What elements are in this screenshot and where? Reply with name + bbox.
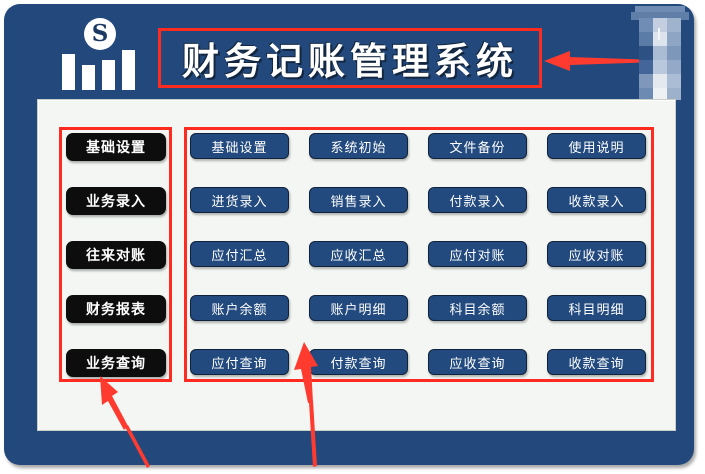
app-root: S 财务记账管理系统 — [0, 0, 705, 474]
bar-chart-logo: S — [60, 18, 142, 90]
grid-button-r3c4[interactable]: 应收对账 — [547, 241, 646, 267]
sidebar-item-reconciliation[interactable]: 往来对账 — [66, 241, 166, 269]
grid-button-r5c2[interactable]: 付款查询 — [309, 349, 408, 375]
content-panel: 基础设置 业务录入 往来对账 财务报表 业务查询 基础设置 系统初始 文件备份 … — [37, 99, 676, 431]
grid-button-r4c2[interactable]: 账户明细 — [309, 295, 408, 321]
window-frame: S 财务记账管理系统 — [4, 4, 694, 465]
grid-button-r4c4[interactable]: 科目明细 — [547, 295, 646, 321]
grid-button-r5c1[interactable]: 应付查询 — [190, 349, 289, 375]
grid-button-r3c1[interactable]: 应付汇总 — [190, 241, 289, 267]
sidebar-menu: 基础设置 业务录入 往来对账 财务报表 业务查询 — [66, 133, 166, 377]
grid-button-r2c2[interactable]: 销售录入 — [309, 187, 408, 213]
grid-button-r2c4[interactable]: 收款录入 — [547, 187, 646, 213]
page-title: 财务记账管理系统 — [161, 31, 539, 85]
logo-bar-2 — [82, 65, 95, 90]
sidebar-item-business-query[interactable]: 业务查询 — [66, 349, 166, 377]
grid-button-r4c3[interactable]: 科目余额 — [428, 295, 527, 321]
grid-button-r5c4[interactable]: 收款查询 — [547, 349, 646, 375]
title-highlight-box: 财务记账管理系统 — [158, 28, 542, 88]
sidebar-item-business-entry[interactable]: 业务录入 — [66, 187, 166, 215]
logo-bars-icon — [60, 45, 142, 90]
grid-button-r2c3[interactable]: 付款录入 — [428, 187, 527, 213]
grid-button-r3c2[interactable]: 应收汇总 — [309, 241, 408, 267]
grid-button-r3c3[interactable]: 应付对账 — [428, 241, 527, 267]
logo-bar-1 — [62, 54, 75, 90]
grid-button-r1c3[interactable]: 文件备份 — [428, 133, 527, 159]
grid-button-r4c1[interactable]: 账户余额 — [190, 295, 289, 321]
logo-bar-3 — [102, 60, 115, 90]
app-header: S 财务记账管理系统 — [4, 4, 694, 96]
pixelated-watermark — [629, 4, 691, 109]
grid-button-r1c1[interactable]: 基础设置 — [190, 133, 289, 159]
grid-button-r1c2[interactable]: 系统初始 — [309, 133, 408, 159]
sidebar-item-basic-settings[interactable]: 基础设置 — [66, 133, 166, 161]
sidebar-item-financial-report[interactable]: 财务报表 — [66, 295, 166, 323]
grid-button-r1c4[interactable]: 使用说明 — [547, 133, 646, 159]
grid-button-r5c3[interactable]: 应收查询 — [428, 349, 527, 375]
logo-bar-4 — [122, 50, 135, 90]
grid-button-r2c1[interactable]: 进货录入 — [190, 187, 289, 213]
function-button-grid: 基础设置 系统初始 文件备份 使用说明 进货录入 销售录入 付款录入 收款录入 … — [190, 133, 648, 377]
